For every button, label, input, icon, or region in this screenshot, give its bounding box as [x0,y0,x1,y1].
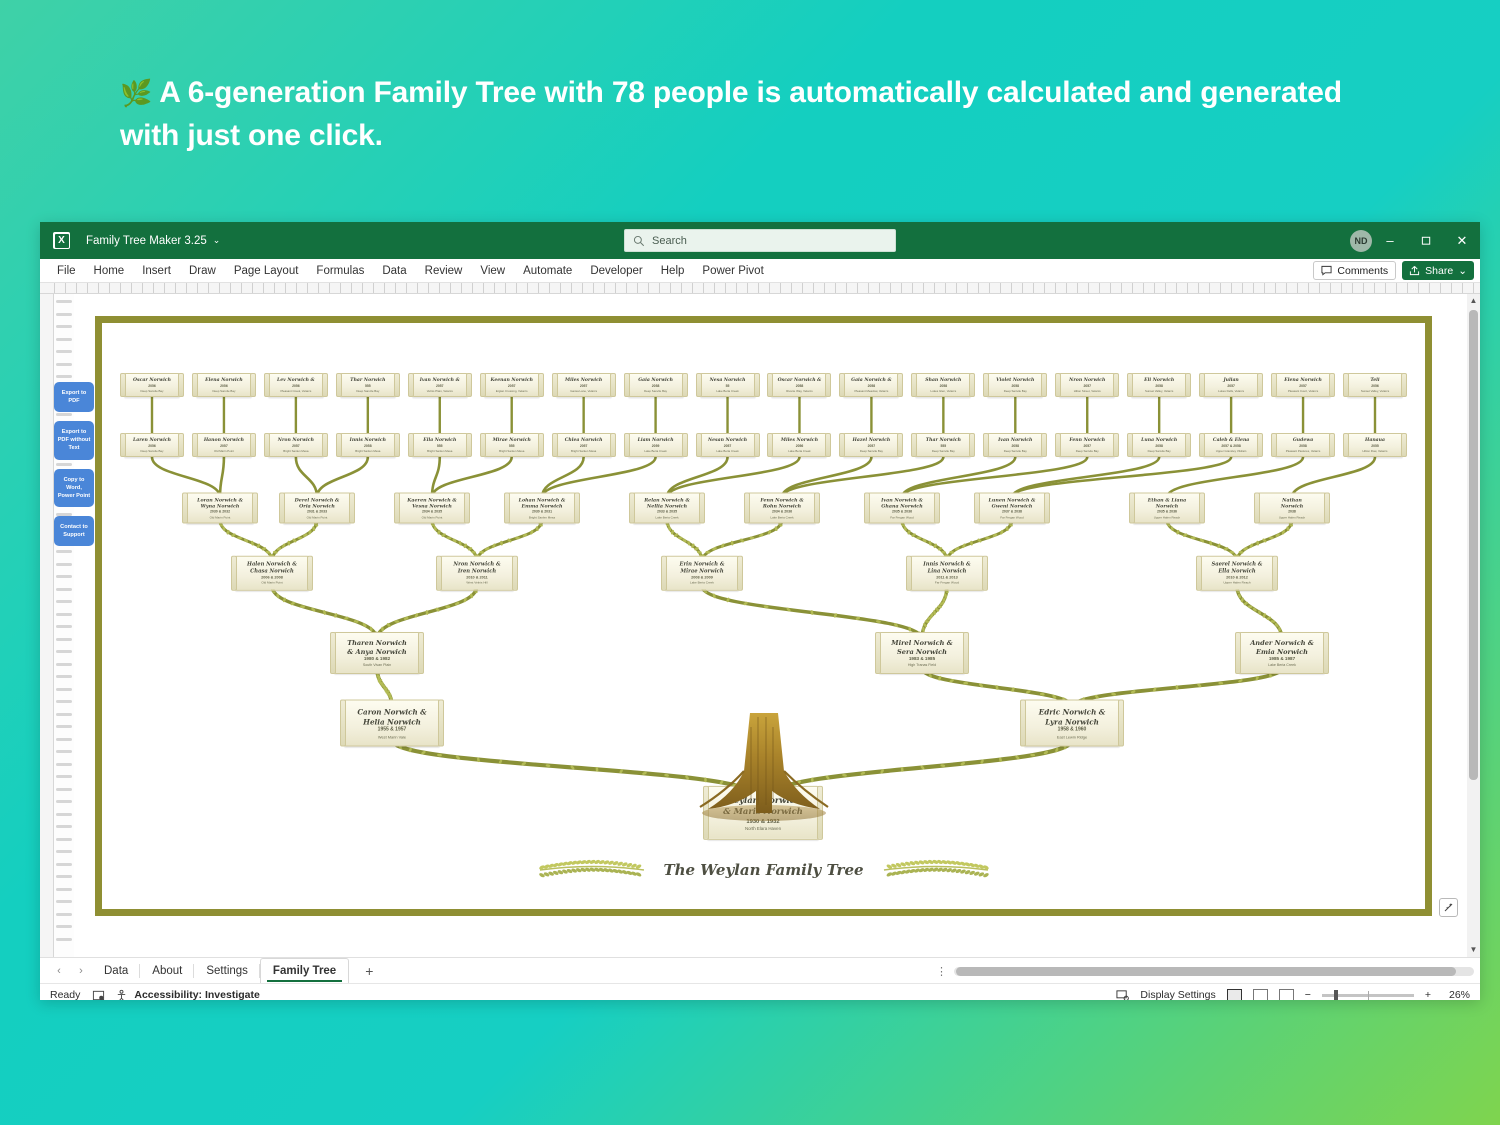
member-place: Pleasant Creek, Velarcs [271,389,321,393]
accessibility-icon[interactable] [115,989,128,1001]
member-place: Deep Sanvile Bay [631,389,681,393]
family-member-card: Shan Norwich2058Lukes Glen, Velarcs [915,373,971,397]
family-member-card: Saerel Norwich &Ella Norwich2010 & 2012U… [1200,556,1274,591]
member-place: Hilton Row, Velarcs [1350,449,1400,453]
zoom-slider-handle[interactable] [1334,990,1338,1001]
member-place: Deep Sanvile Bay [127,389,177,393]
member-place: Bright Sanlen Mesa [415,449,465,453]
member-place: Far Fergan Wood [871,515,933,519]
member-name: Mirae Norwich [669,568,735,575]
member-place: Lukes Dells, Velarcs [1206,389,1256,393]
sheet-tab-about[interactable]: About [140,958,194,984]
member-place: Pleasant Meadow, Velarcs [846,389,896,393]
family-member-card: Keenan Norwich2057Ergian Crossing, Velar… [484,373,540,397]
accessibility-status-label[interactable]: Accessibility: Investigate [134,989,259,1000]
member-name: Nesa Norwich [703,378,753,384]
member-place: Deep Sanvile Bay [199,389,249,393]
family-member-card: Mirae Norwich555Bright Sanlen Mesa [484,433,540,457]
member-place: Upper Halen Reach [1204,581,1270,585]
horizontal-scroll-group: ⋮ [936,958,1474,984]
document-title: Family Tree Maker 3.25 [86,235,207,247]
member-name: Chlea Norwich [559,438,609,444]
family-member-card: Loran Norwich &Wyna Norwich2030 & 2032Ol… [186,493,254,524]
side-action-buttons: Export to PDF Export to PDF without Text… [54,382,94,546]
herb-leaf-icon: 🌿 [120,78,152,108]
member-place: Pleasant Court, Velarcs [1278,389,1328,393]
member-place: Hilton Street, Velarcs [1062,389,1112,393]
member-name: Innis Norwich [343,438,393,444]
normal-view-button[interactable] [1227,989,1242,1001]
member-name: Liam Norwich [631,438,681,444]
family-tree-diagram: Oscar Norwich2056Deep Sanvile BayElena N… [102,323,1425,909]
member-name: Sera Norwich [884,648,960,657]
member-place: Bright Sanlen Mesa [511,515,573,519]
horizontal-scrollbar[interactable] [954,967,1474,976]
member-name: Miles Norwich [559,378,609,384]
contact-to-support-button[interactable]: Contact to Support [54,516,94,546]
member-place: Far Fergan Wood [914,581,980,585]
member-place: Pleasant Pastures, Velarcs [1278,449,1328,453]
family-member-card: Liam Norwich2059Lake Beria Creek [628,433,684,457]
status-bar: Ready Accessibility: Investigate Display… [40,983,1480,1000]
member-place: Upper Gransley Vildrain [1206,449,1256,453]
family-member-card: Nesan Norwich2057Lake Beria Creek [700,433,756,457]
member-name: Saerel Norwich & [1204,562,1270,569]
member-place: Far Fergan Wood [981,515,1043,519]
family-member-card: Elena Norwich2057Pleasant Court, Velarcs [1275,373,1331,397]
sheet-tab-bar: ‹ › Data About Settings Family Tree + ⋮ [40,957,1480,983]
horizontal-scroll-thumb[interactable] [956,967,1456,976]
member-place: North Elara Haven [714,826,812,832]
family-member-card: Teli2056Sunset Valley, Velarcs [1347,373,1403,397]
family-member-card: Lunen Norwich &Gweni Norwich2037 & 2038F… [978,493,1046,524]
page-layout-view-button[interactable] [1253,989,1268,1001]
ribbon-tab-file[interactable]: File [48,259,85,283]
tree-caption: The Weylan Family Tree [535,859,991,881]
ribbon-tab-data[interactable]: Data [373,259,415,283]
member-place: Upper Halen Reach [1136,515,1198,519]
next-sheet-button[interactable]: › [70,965,92,977]
family-member-card: Innis Norwich &Lina Norwich2011 & 2013Fa… [910,556,984,591]
zoom-in-button[interactable]: + [1425,989,1431,1000]
ribbon-tab-automate[interactable]: Automate [514,259,581,283]
member-name: Caleb & Elena [1206,438,1256,444]
member-place: Deep Sanvile Bay [127,449,177,453]
zoom-level-label[interactable]: 26% [1442,989,1470,1000]
family-member-card: Nesa Norwich55Lake Beria Creek [700,373,756,397]
family-member-card: Nron Norwich2057Bright Sanlen Mesa [268,433,324,457]
member-name: Shan Norwich [918,378,968,384]
member-name: Iren Norwich [444,568,510,575]
member-place: Deep Sanvile Bay [1062,449,1112,453]
family-member-card: Ivan Norwich2058Deep Sanvile Bay [987,433,1043,457]
family-member-card: Halen Norwich &Chasa Norwich2006 & 2008O… [235,556,309,591]
family-member-card: Innis Norwich2058Bright Sanlen Mesa [340,433,396,457]
restore-button[interactable] [1408,222,1444,259]
family-member-card: Edric Norwich &Lyra Norwich1958 & 1960Ea… [1024,700,1120,747]
zoom-out-button[interactable]: − [1305,989,1311,1000]
member-name: Mirel Norwich & [884,639,960,648]
family-member-card: Caron Norwich &Helia Norwich1955 & 1957W… [344,700,440,747]
member-place: Deep Sanvile Bay [1134,449,1184,453]
comments-label: Comments [1337,265,1388,277]
member-name: Helia Norwich [350,717,434,727]
member-name: Nesan Norwich [703,438,753,444]
family-member-card: Elena Norwich2056Deep Sanvile Bay [196,373,252,397]
member-place: West Velnis Hill [444,581,510,585]
status-bar-right: Display Settings − + 26% [1116,989,1470,1001]
member-place: West Marin Vale [350,734,434,739]
column-header-bar[interactable] [40,283,1480,294]
member-name: Caron Norwich & [350,708,434,718]
quick-analysis-button[interactable] [1439,898,1458,917]
member-years: 1980 & 1982 [339,656,415,663]
share-button[interactable]: Share ⌄ [1402,261,1474,280]
display-settings-icon [1116,989,1129,1001]
chevron-down-icon[interactable]: ⌄ [213,235,221,246]
member-name: Halen Norwich & [239,562,305,569]
comment-icon [1321,265,1332,276]
member-place: Lake Beria Creek [703,449,753,453]
ribbon-tab-home[interactable]: Home [85,259,134,283]
member-place: South Vivan Plain [339,663,415,668]
family-member-card: Ella Norwich555Bright Sanlen Mesa [412,433,468,457]
member-place: Lukes Glen, Velarcs [918,389,968,393]
member-place: Gansa Lane, Velarcs [559,389,609,393]
member-name: Luna Norwich [1134,438,1184,444]
member-place: Old Marin Point [199,449,249,453]
family-member-card: Ander Norwich &Emia Norwich1985 & 1987La… [1239,632,1325,674]
tree-trunk-illustration [680,713,848,821]
avatar[interactable]: ND [1350,230,1372,252]
family-member-card: Caleb & Elena2057 & 2058Upper Gransley V… [1203,433,1259,457]
family-member-card: Julian2057Lukes Dells, Velarcs [1203,373,1259,397]
add-sheet-button[interactable]: + [349,963,389,979]
member-name: Lyra Norwich [1030,717,1114,727]
family-member-card: Hazel Norwich2057Deep Sanvile Bay [843,433,899,457]
promo-headline-text: A 6-generation Family Tree with 78 peopl… [120,76,1342,152]
window-controls-group: ND – ✕ [1350,222,1480,259]
ribbon-tab-developer[interactable]: Developer [581,259,651,283]
member-place: Lake Beria Creek [669,581,735,585]
zoom-slider-tick [1368,991,1369,1000]
member-name: Laren Norwich [127,438,177,444]
ribbon-tab-review[interactable]: Review [416,259,472,283]
family-member-card: Miles Norwich2056Lake Beria Creek [771,433,827,457]
member-name: Lev Norwich & [271,378,321,384]
member-place: Lake Beria Creek [703,389,753,393]
excel-window: Family Tree Maker 3.25 ⌄ Search ND – ✕ F… [40,222,1480,1000]
vertical-scrollbar[interactable]: ▲ ▼ [1467,294,1480,957]
vertical-scroll-thumb[interactable] [1469,310,1478,780]
member-name: Edric Norwich & [1030,708,1114,718]
member-place: Lake Beria Creek [751,515,813,519]
member-place: Old Marin Point [286,515,348,519]
ribbon-tab-insert[interactable]: Insert [133,259,180,283]
page-break-preview-button[interactable] [1279,989,1294,1001]
export-to-pdf-without-text-button[interactable]: Export to PDF without Text [54,421,94,459]
member-name: Oscar Norwich [127,378,177,384]
member-name: Tharen Norwich [339,639,415,648]
family-member-card: Fenn Norwich &Rohn Norwich2034 & 2036Lak… [748,493,816,524]
family-member-card: Thar Norwich555Deep Sanvile Bay [340,373,396,397]
tree-caption-text: The Weylan Family Tree [663,861,863,879]
family-member-card: Ethan & LianaNorwich2035 & 2036Upper Hal… [1133,493,1201,524]
member-name: Nron Norwich & [444,562,510,569]
member-place: Lake Beria Creek [636,515,698,519]
family-member-card: Derel Norwich &Oria Norwich2031 & 2033Ol… [283,493,351,524]
close-button[interactable]: ✕ [1444,222,1480,259]
member-name: Ella Norwich [1204,568,1270,575]
family-member-card: Gudewa2058Pleasant Pastures, Velarcs [1275,433,1331,457]
member-place: Ergian Crossing, Velarcs [487,389,537,393]
member-place: Lake Beria Creek [1244,663,1320,668]
display-settings-label[interactable]: Display Settings [1140,989,1215,1000]
laurel-right-icon [880,859,992,881]
family-member-card: Eli Norwich2058Sunset Valley, Velarcs [1131,373,1187,397]
member-place: East Lewin Ridge [1030,734,1114,739]
member-place: Velnis Plain, Velarcs [415,389,465,393]
family-member-card: Tharen Norwich& Anya Norwich1980 & 1982S… [334,632,420,674]
member-name: Gaia Norwich & [846,378,896,384]
status-ready-label: Ready [50,989,80,1000]
search-placeholder: Search [652,235,687,247]
member-place: Old Marin Point [189,515,251,519]
member-name: Elena Norwich [1278,378,1328,384]
member-name: Elena Norwich [199,378,249,384]
tab-overflow-icon[interactable]: ⋮ [936,965,948,978]
member-place: Sunset Valley, Velarcs [1134,389,1184,393]
member-place: Old Marin Point [401,515,463,519]
family-member-card: Hanon Norwich2057Old Marin Point [196,433,252,457]
sparkle-icon [1443,902,1455,914]
family-member-card: Mirel Norwich &Sera Norwich1983 & 1985Hi… [879,632,965,674]
member-name: Ander Norwich & [1244,639,1320,648]
family-member-card: Ivan Norwich &Ghana Norwich2035 & 2036Fa… [868,493,936,524]
export-to-pdf-button[interactable]: Export to PDF [54,382,94,412]
family-member-card: Hanaua2055Hilton Row, Velarcs [1347,433,1403,457]
member-name: Ivan Norwich & [415,378,465,384]
member-name: Chasa Norwich [239,568,305,575]
member-years: 1958 & 1960 [1030,727,1114,735]
member-years: 1983 & 1985 [884,656,960,663]
minimize-button[interactable]: – [1372,222,1408,259]
promo-headline: 🌿 A 6-generation Family Tree with 78 peo… [120,72,1380,157]
member-name: Lina Norwich [914,568,980,575]
ribbon-tab-formulas[interactable]: Formulas [307,259,373,283]
member-place: Bright Sanlen Mesa [343,449,393,453]
family-tree-page: Oscar Norwich2056Deep Sanvile BayElena N… [95,316,1432,916]
member-name: Mirae Norwich [487,438,537,444]
search-icon [633,235,645,247]
family-member-card: Thar Norwich555Deep Sanvile Bay [915,433,971,457]
member-place: Upper Halen Reach [1261,515,1323,519]
member-place: Lake Beria Creek [774,449,824,453]
ribbon-tabs: File Home Insert Draw Page Layout Formul… [40,259,1480,283]
family-member-card: Gaia Norwich &2058Pleasant Meadow, Velar… [843,373,899,397]
ribbon-tab-draw[interactable]: Draw [180,259,225,283]
member-place: Deep Sanvile Bay [918,449,968,453]
member-name: Thar Norwich [918,438,968,444]
member-name: Fenn Norwich [1062,438,1112,444]
worksheet-canvas[interactable]: Export to PDF Export to PDF without Text… [40,294,1480,957]
macro-record-icon[interactable] [92,989,105,1001]
ribbon-tab-page-layout[interactable]: Page Layout [225,259,308,283]
member-name: Violet Norwich [990,378,1040,384]
member-place: Bright Sanlen Mesa [559,449,609,453]
ribbon-tab-power-pivot[interactable]: Power Pivot [693,259,772,283]
sheet-tab-family-tree[interactable]: Family Tree [260,958,349,984]
sheet-tab-data[interactable]: Data [92,958,140,984]
family-member-card: Violet Norwich2058Deep Sanvile Bay [987,373,1043,397]
member-place: Bright Sanlen Mesa [271,449,321,453]
family-member-card: Kaeren Norwich &Vesna Norwich2034 & 2035… [398,493,466,524]
family-member-card: Ivan Norwich &2057Velnis Plain, Velarcs [412,373,468,397]
family-member-card: Oscar Norwich2056Deep Sanvile Bay [124,373,180,397]
member-place: Sunset Valley, Velarcs [1350,389,1400,393]
member-name: Oscar Norwich & [774,378,824,384]
search-input[interactable]: Search [624,229,896,252]
family-member-card: Laren Norwich2056Deep Sanvile Bay [124,433,180,457]
ribbon-tab-view[interactable]: View [471,259,514,283]
member-place: Deep Sanvile Bay [846,449,896,453]
member-years: 1955 & 1957 [350,727,434,735]
sheet-tab-settings[interactable]: Settings [194,958,260,984]
family-member-card: NathanNorwich2038Upper Halen Reach [1258,493,1326,524]
member-place: Deep Sanvile Bay [990,449,1040,453]
member-name: Erin Norwich & [669,562,735,569]
family-member-card: Lohan Norwich &Emma Norwich2030 & 2031Br… [508,493,576,524]
member-place: Bright Sanlen Mesa [487,449,537,453]
family-member-card: Erin Norwich &Mirae Norwich2008 & 2009La… [665,556,739,591]
excel-icon [53,232,70,249]
member-name: Nron Norwich [271,438,321,444]
family-member-card: Miles Norwich2057Gansa Lane, Velarcs [556,373,612,397]
family-member-card: Gaia Norwich2058Deep Sanvile Bay [628,373,684,397]
member-place: Deep Sanvile Bay [343,389,393,393]
zoom-slider[interactable] [1322,994,1414,997]
member-name: Miles Norwich [774,438,824,444]
family-member-card: Relan Norwich &Nellia Norwich2033 & 2035… [633,493,701,524]
member-place: Lake Beria Creek [631,449,681,453]
copy-to-word-powerpoint-button[interactable]: Copy to Word, Power Point [54,469,94,507]
member-place: Old Marin Point [239,581,305,585]
member-name: & Anya Norwich [339,648,415,657]
member-place: High Tranas Field [884,663,960,668]
laurel-left-icon [535,859,647,881]
comments-button[interactable]: Comments [1313,261,1396,280]
family-member-card: Luna Norwich2058Deep Sanvile Bay [1131,433,1187,457]
family-member-card: Lev Norwich &2056Pleasant Creek, Velarcs [268,373,324,397]
title-bar: Family Tree Maker 3.25 ⌄ Search ND – ✕ [40,222,1480,259]
previous-sheet-button[interactable]: ‹ [48,965,70,977]
share-chevron-down-icon: ⌄ [1458,265,1467,277]
scroll-down-arrow-icon[interactable]: ▼ [1467,943,1480,957]
member-name: Innis Norwich & [914,562,980,569]
share-label: Share [1425,265,1453,277]
family-member-card: Chlea Norwich2057Bright Sanlen Mesa [556,433,612,457]
member-name: Emia Norwich [1244,648,1320,657]
member-name: Thar Norwich [343,378,393,384]
member-name: Keenan Norwich [487,378,537,384]
scroll-up-arrow-icon[interactable]: ▲ [1467,294,1480,308]
member-name: Nron Norwich [1062,378,1112,384]
row-header-bar[interactable] [40,294,54,957]
family-member-card: Fenn Norwich2057Deep Sanvile Bay [1059,433,1115,457]
member-place: Deep Sanvile Bay [990,389,1040,393]
ribbon-actions: Comments Share ⌄ [1313,261,1474,280]
member-name: Hanon Norwich [199,438,249,444]
family-member-card: Nron Norwich &Iren Norwich2010 & 2011Wes… [440,556,514,591]
share-icon [1409,265,1420,276]
family-member-card: Nron Norwich2057Hilton Street, Velarcs [1059,373,1115,397]
ribbon-tab-help[interactable]: Help [652,259,694,283]
family-member-card: Oscar Norwich &2058Riverie Way, Velarcs [771,373,827,397]
member-years: 1985 & 1987 [1244,656,1320,663]
member-place: Riverie Way, Velarcs [774,389,824,393]
member-name: Hazel Norwich [846,438,896,444]
